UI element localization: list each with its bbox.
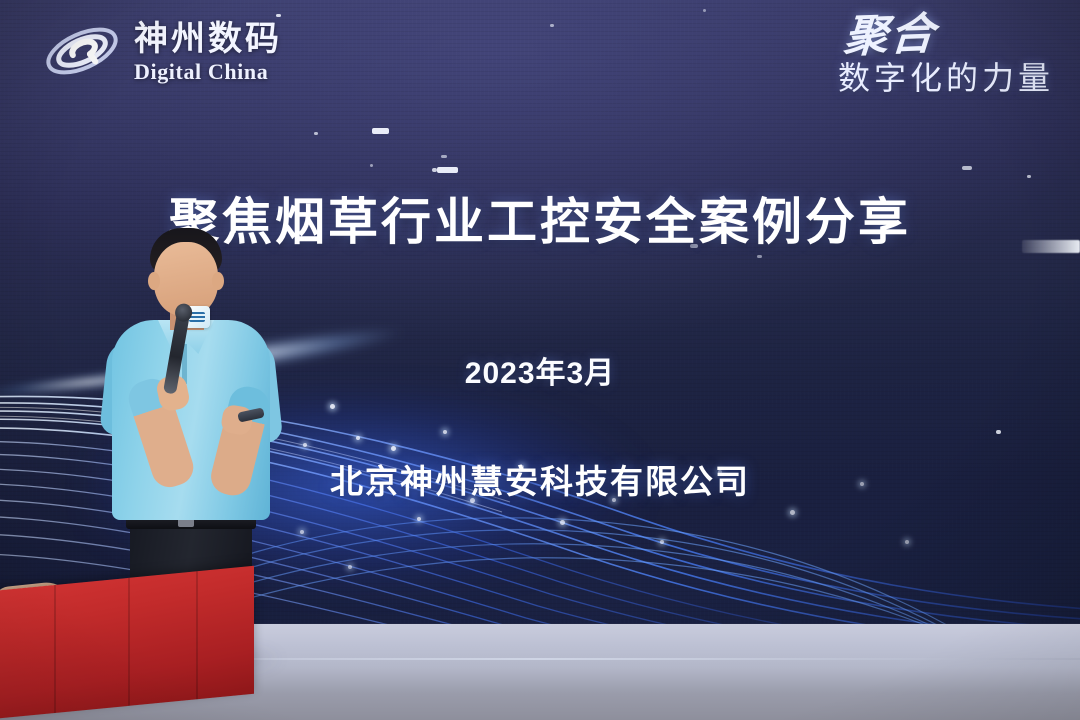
table-cloth [0,566,254,720]
conference-photo: 神州数码 Digital China 聚合 数字化的力量 聚焦烟草行业工控安全案… [0,0,1080,720]
speaker-ear-left [148,272,160,290]
speaker-ear-right [212,272,224,290]
